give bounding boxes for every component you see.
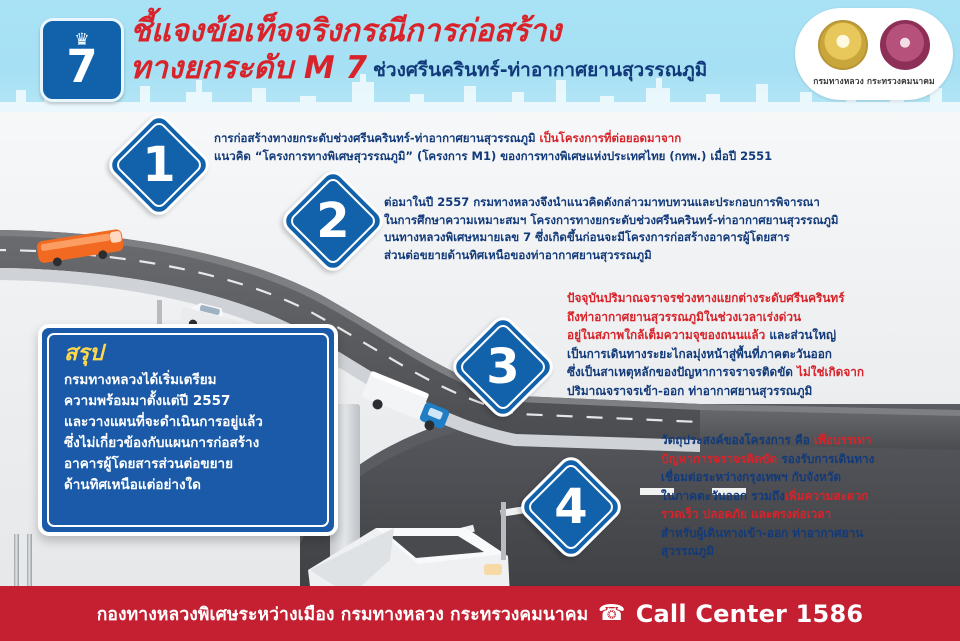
point-text-4: วัตถุประสงค์ของโครงการ คือ เพื่อบรรเทาปั… <box>661 431 874 561</box>
text-line: รวดเร็ว ปลอดภัย และตรงต่อเวลา <box>661 505 874 524</box>
point-text-2: ต่อมาในปี 2557 กรมทางหลวงจึงนำแนวคิดดังก… <box>384 194 838 264</box>
agency-logo-pill: กรมทางหลวง กระทรวงคมนาคม <box>795 8 953 100</box>
text-run: เพื่อบรรเทา <box>814 433 872 447</box>
page-title-line2: ทางยกระดับ M 7ช่วงศรีนครินทร์-ท่าอากาศยา… <box>130 50 790 90</box>
text-run: บนทางหลวงพิเศษหมายเลข 7 ซึ่งเกิดขึ้นก่อน… <box>384 230 790 244</box>
text-run: การก่อสร้างทางยกระดับช่วงศรีนครินทร์-ท่า… <box>214 131 540 145</box>
point-number-1: 1 <box>104 110 214 220</box>
text-line: อยู่ในสภาพใกล้เต็มความจุของถนนแล้ว และส่… <box>567 326 864 345</box>
point-number-4: 4 <box>516 452 626 562</box>
footer-agency-text: กองทางหลวงพิเศษระหว่างเมือง กรมทางหลวง ก… <box>97 600 589 628</box>
text-run: และส่วนใหญ่ <box>769 328 836 342</box>
text-run: แนวคิด “โครงการทางพิเศษสุวรรณภูมิ” (โครง… <box>214 149 772 163</box>
summary-line: และวางแผนที่จะดำเนินการอยู่แล้ว <box>64 412 322 433</box>
text-run: ปัญหาการจราจรติดขัด <box>661 452 781 466</box>
summary-title: สรุป <box>64 342 103 366</box>
text-line: ปัจจุบันปริมาณจราจรช่วงทางแยกต่างระดับศร… <box>567 289 864 308</box>
guardrail <box>14 534 36 586</box>
text-run: ปัจจุบันปริมาณจราจรช่วงทางแยกต่างระดับศร… <box>567 291 845 305</box>
text-line: ปัญหาการจราจรติดขัด รองรับการเดินทาง <box>661 450 874 469</box>
point-sign-1: 1 <box>120 126 198 204</box>
point-number-2: 2 <box>278 166 388 276</box>
point-sign-3: 3 <box>464 328 542 406</box>
text-line: ในภาคตะวันออก รวมถึงเพิ่มความสะดวก <box>661 487 874 506</box>
motorway-shield-7: ♛ 7 <box>40 18 124 102</box>
point-sign-4: 4 <box>532 468 610 546</box>
text-run: เชื่อมต่อระหว่างกรุงเทพฯ กับจังหวัด <box>661 470 841 484</box>
point-number-3: 3 <box>448 312 558 422</box>
text-run: ในการศึกษาความเหมาะสมฯ โครงการทางยกระดับ… <box>384 213 838 227</box>
text-line: สุวรรณภูมิ <box>661 542 874 561</box>
text-line: สำหรับผู้เดินทางเข้า-ออก ท่าอากาศยาน <box>661 524 874 543</box>
text-line: ปริมาณจราจรเข้า-ออก ท่าอากาศยานสุวรรณภูม… <box>567 382 864 401</box>
text-run: ในภาคตะวันออก รวมถึง <box>661 489 785 503</box>
text-line: ในการศึกษาความเหมาะสมฯ โครงการทางยกระดับ… <box>384 212 838 230</box>
summary-line: ความพร้อมมาตั้งแต่ปี 2557 <box>64 391 322 412</box>
infographic-root: ♛ 7 ชี้แจงข้อเท็จจริงกรณีการก่อสร้าง ทาง… <box>0 0 960 641</box>
summary-line: กรมทางหลวงได้เริ่มเตรียม <box>64 370 322 391</box>
text-line: ต่อมาในปี 2557 กรมทางหลวงจึงนำแนวคิดดังก… <box>384 194 838 212</box>
text-run: ต่อมาในปี 2557 กรมทางหลวงจึงนำแนวคิดดังก… <box>384 195 820 209</box>
ministry-of-transport-emblem <box>880 20 930 70</box>
footer-bar: กองทางหลวงพิเศษระหว่างเมือง กรมทางหลวง ก… <box>0 586 960 641</box>
text-line: แนวคิด “โครงการทางพิเศษสุวรรณภูมิ” (โครง… <box>214 148 772 166</box>
point-text-3: ปัจจุบันปริมาณจราจรช่วงทางแยกต่างระดับศร… <box>567 289 864 400</box>
shield-number: 7 <box>43 43 121 91</box>
text-run: สำหรับผู้เดินทางเข้า-ออก ท่าอากาศยาน <box>661 526 863 540</box>
summary-body: กรมทางหลวงได้เริ่มเตรียมความพร้อมมาตั้งแ… <box>64 370 322 496</box>
page-subtitle: ช่วงศรีนครินทร์-ท่าอากาศยานสุวรรณภูมิ <box>373 59 707 81</box>
text-run: เพิ่มความสะดวก <box>785 489 868 503</box>
summary-line: ซึ่งไม่เกี่ยวข้องกับแผนการก่อสร้าง <box>64 433 322 454</box>
text-run: เป็นการเดินทางระยะไกลมุ่งหน้าสู่พื้นที่ภ… <box>567 347 832 361</box>
emblem-row <box>795 20 953 70</box>
summary-sign: สรุป กรมทางหลวงได้เริ่มเตรียมความพร้อมมา… <box>38 324 338 536</box>
summary-line: อาคารผู้โดยสารส่วนต่อขยาย <box>64 454 322 475</box>
point-text-1: การก่อสร้างทางยกระดับช่วงศรีนครินทร์-ท่า… <box>214 130 772 165</box>
department-of-highways-emblem <box>818 20 868 70</box>
text-line: ส่วนต่อขยายด้านทิศเหนือของท่าอากาศยานสุว… <box>384 247 838 265</box>
header-title-group: ชี้แจงข้อเท็จจริงกรณีการก่อสร้าง ทางยกระ… <box>130 13 790 90</box>
text-run: ไม่ใช่เกิดจาก <box>797 365 864 379</box>
page-title-line1: ชี้แจงข้อเท็จจริงกรณีการก่อสร้าง <box>130 13 790 49</box>
text-run: ถึงท่าอากาศยานสุวรรณภูมิในช่วงเวลาเร่งด่… <box>567 310 801 324</box>
page-title-main: ทางยกระดับ M 7 <box>130 50 367 86</box>
text-line: การก่อสร้างทางยกระดับช่วงศรีนครินทร์-ท่า… <box>214 130 772 148</box>
text-line: ถึงท่าอากาศยานสุวรรณภูมิในช่วงเวลาเร่งด่… <box>567 308 864 327</box>
call-center-label[interactable]: Call Center 1586 <box>636 600 864 628</box>
text-run: รองรับการเดินทาง <box>781 452 874 466</box>
text-run: สุวรรณภูมิ <box>661 544 714 558</box>
text-run: วัตถุประสงค์ของโครงการ คือ <box>661 433 814 447</box>
text-run: ปริมาณจราจรเข้า-ออก ท่าอากาศยานสุวรรณภูม… <box>567 384 812 398</box>
text-line: เชื่อมต่อระหว่างกรุงเทพฯ กับจังหวัด <box>661 468 874 487</box>
text-line: ซึ่งเป็นสาเหตุหลักของปัญหาการจราจรติดขัด… <box>567 363 864 382</box>
header-bar: ♛ 7 ชี้แจงข้อเท็จจริงกรณีการก่อสร้าง ทาง… <box>0 0 960 112</box>
summary-line: ด้านทิศเหนือแต่อย่างใด <box>64 475 322 496</box>
text-run: ซึ่งเป็นสาเหตุหลักของปัญหาการจราจรติดขัด <box>567 365 797 379</box>
text-run: เป็นโครงการที่ต่อยอดมาจาก <box>540 131 682 145</box>
text-line: บนทางหลวงพิเศษหมายเลข 7 ซึ่งเกิดขึ้นก่อน… <box>384 229 838 247</box>
text-run: ส่วนต่อขยายด้านทิศเหนือของท่าอากาศยานสุว… <box>384 248 652 262</box>
text-line: วัตถุประสงค์ของโครงการ คือ เพื่อบรรเทา <box>661 431 874 450</box>
phone-handset-icon: ☎ <box>598 603 625 625</box>
text-line: เป็นการเดินทางระยะไกลมุ่งหน้าสู่พื้นที่ภ… <box>567 345 864 364</box>
logo-caption: กรมทางหลวง กระทรวงคมนาคม <box>795 74 953 88</box>
point-sign-2: 2 <box>294 182 372 260</box>
text-run: รวดเร็ว ปลอดภัย และตรงต่อเวลา <box>661 507 831 521</box>
footer-content: กองทางหลวงพิเศษระหว่างเมือง กรมทางหลวง ก… <box>0 586 960 641</box>
text-run: อยู่ในสภาพใกล้เต็มความจุของถนนแล้ว <box>567 328 769 342</box>
